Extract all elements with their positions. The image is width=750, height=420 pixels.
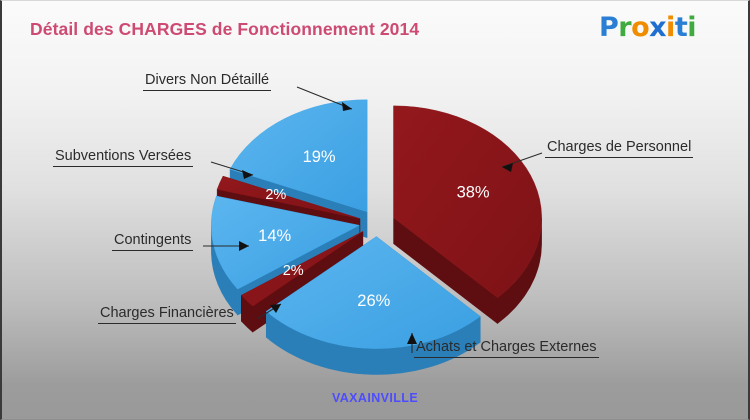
slice-value-label: 26% <box>357 292 390 310</box>
commune-name: VAXAINVILLE <box>2 391 748 405</box>
callout-subventions-versees[interactable]: Subventions Versées <box>53 147 193 167</box>
slice-value-label: 19% <box>303 148 336 166</box>
slice-value-label: 2% <box>283 263 304 279</box>
callout-charges-financieres[interactable]: Charges Financières <box>98 304 236 324</box>
callout-achats-et-charges-externes[interactable]: Achats et Charges Externes <box>414 338 599 358</box>
chart-page: Détail des CHARGES de Fonctionnement 201… <box>0 0 750 420</box>
callout-charges-de-personnel[interactable]: Charges de Personnel <box>545 138 693 158</box>
pie-chart: 38%26%2%14%2%19% <box>2 1 750 420</box>
callout-contingents[interactable]: Contingents <box>112 231 193 251</box>
slice-value-label: 38% <box>457 184 490 202</box>
slice-value-label: 2% <box>265 187 286 203</box>
slice-value-label: 14% <box>258 227 291 245</box>
callout-divers-non-detaille[interactable]: Divers Non Détaillé <box>143 71 271 91</box>
